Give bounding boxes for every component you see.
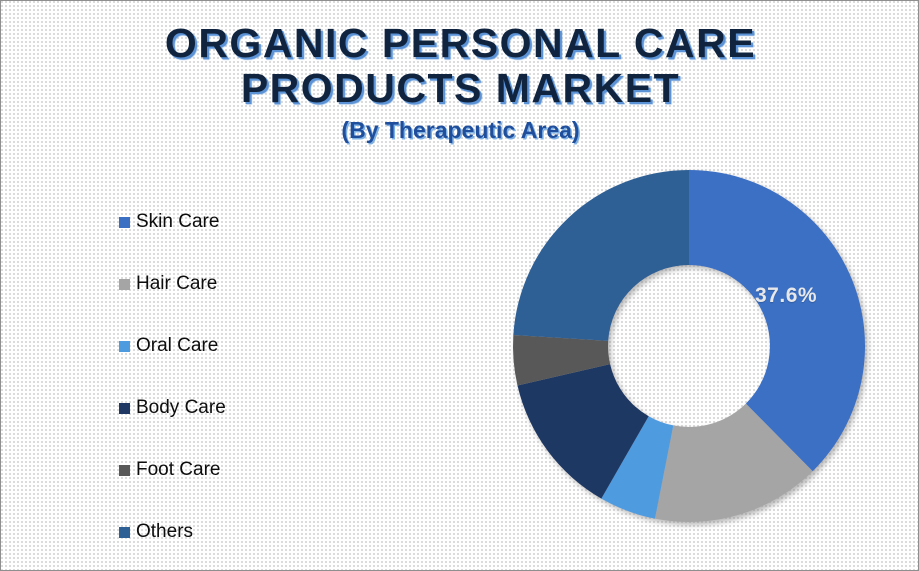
legend-item-label: Foot Care [136,459,220,481]
legend-item[interactable]: Hair Care [119,253,339,315]
chart-subtitle: (By Therapeutic Area) [1,117,919,144]
chart-canvas: ORGANIC PERSONAL CARE PRODUCTS MARKET (B… [0,0,919,571]
legend-swatch-icon [119,341,130,352]
legend-item-label: Body Care [136,397,226,419]
page-title: ORGANIC PERSONAL CARE PRODUCTS MARKET [1,21,919,111]
legend-swatch-icon [119,279,130,290]
donut-svg [501,158,877,534]
legend-swatch-icon [119,217,130,228]
donut-slice[interactable] [513,170,689,341]
legend-swatch-icon [119,465,130,476]
donut-chart: 37.6% [501,158,877,534]
legend-item[interactable]: Oral Care [119,315,339,377]
legend-item[interactable]: Skin Care [119,191,339,253]
legend-item-label: Others [136,521,193,543]
legend-swatch-icon [119,527,130,538]
legend-item[interactable]: Foot Care [119,439,339,501]
legend-item-label: Oral Care [136,335,218,357]
legend-swatch-icon [119,403,130,414]
chart-legend: Skin CareHair CareOral CareBody CareFoot… [119,191,339,563]
legend-item[interactable]: Body Care [119,377,339,439]
title-block: ORGANIC PERSONAL CARE PRODUCTS MARKET (B… [1,21,919,144]
data-label-skin-care: 37.6% [755,284,817,308]
legend-item[interactable]: Others [119,501,339,563]
legend-item-label: Hair Care [136,273,217,295]
donut-slices [513,170,865,522]
legend-item-label: Skin Care [136,211,219,233]
